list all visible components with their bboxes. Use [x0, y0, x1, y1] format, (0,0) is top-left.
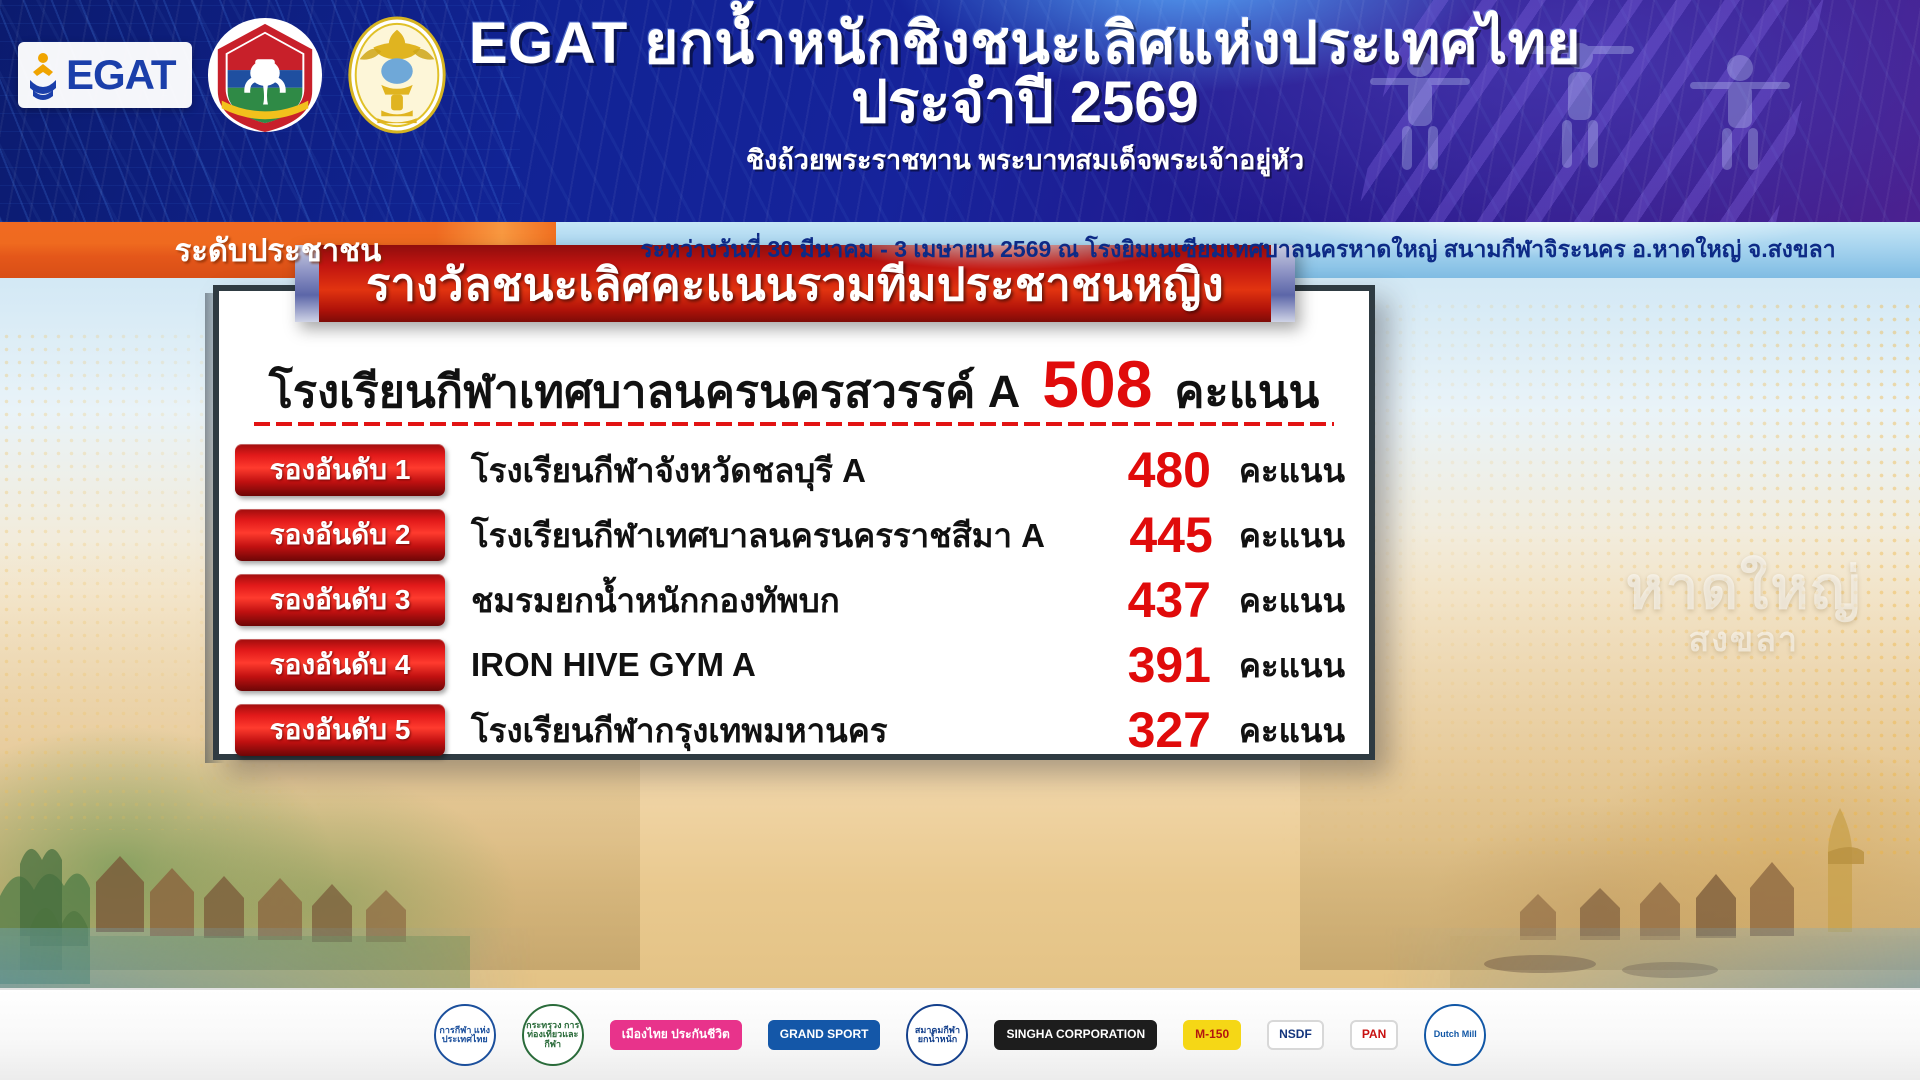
rank-badge: รองอันดับ 1	[235, 444, 445, 496]
organizer-logos: EGAT	[18, 16, 456, 134]
team-name: ชมรมยกน้ำหนักกองทัพบก	[445, 574, 1041, 627]
sponsor-sat-seal: การกีฬา แห่งประเทศไทย	[434, 1002, 496, 1068]
team-name: IRON HIVE GYM A	[445, 646, 1041, 684]
rank-label: รองอันดับ 3	[270, 578, 411, 622]
sponsor-miso-mark: M-150	[1183, 1020, 1241, 1049]
sponsor-dutch-mill: Dutch Mill	[1424, 1002, 1486, 1068]
river-strip	[0, 928, 1920, 988]
sponsor-sat-seal-mark: การกีฬา แห่งประเทศไทย	[434, 1004, 496, 1066]
rank-badge: รองอันดับ 4	[235, 639, 445, 691]
sponsor-nsdf: NSDF	[1267, 1002, 1324, 1068]
team-score: 327	[1041, 705, 1211, 755]
rank-label: รองอันดับ 2	[270, 513, 411, 557]
category-label: ระดับประชาชน	[175, 225, 382, 275]
team-score-unit: คะแนน	[1211, 639, 1351, 692]
table-row: รองอันดับ 5 โรงเรียนกีฬากรุงเทพมหานคร 32…	[235, 698, 1351, 762]
sponsor-pan-mark: PAN	[1350, 1020, 1398, 1049]
egat-logo: EGAT	[18, 42, 192, 108]
sponsor-grand-sport: GRAND SPORT	[768, 1002, 881, 1068]
table-row: รองอันดับ 2 โรงเรียนกีฬาเทศบาลนครนครราชส…	[235, 503, 1351, 567]
event-title-line-2: ประจำปี 2569	[430, 73, 1620, 134]
egat-figure-icon	[26, 50, 60, 100]
event-subtitle: ชิงถ้วยพระราชทาน พระบาทสมเด็จพระเจ้าอยู่…	[430, 138, 1620, 181]
event-title-block: EGAT ยกน้ำหนักชิงชนะเลิศแห่งประเทศไทย ปร…	[430, 14, 1620, 181]
team-score: 391	[1041, 640, 1211, 690]
winner-row: โรงเรียนกีฬาเทศบาลนครนครสวรรค์ A 508 คะแ…	[219, 351, 1369, 427]
sponsor-muangthai-mark: เมืองไทย ประกันชีวิต	[610, 1020, 742, 1049]
table-row: รองอันดับ 1 โรงเรียนกีฬาจังหวัดชลบุรี A …	[235, 438, 1351, 502]
rank-badge: รองอันดับ 5	[235, 704, 445, 756]
winner-team-name: โรงเรียนกีฬาเทศบาลนครนครสวรรค์ A	[269, 355, 1021, 427]
team-score: 445	[1045, 510, 1213, 560]
team-score-unit: คะแนน	[1211, 704, 1351, 757]
table-row: รองอันดับ 4 IRON HIVE GYM A 391 คะแนน	[235, 633, 1351, 697]
team-score: 437	[1041, 575, 1211, 625]
winner-divider	[254, 422, 1334, 426]
sponsor-bar: การกีฬา แห่งประเทศไทยกระทรวง การท่องเที่…	[0, 988, 1920, 1080]
rank-badge: รองอันดับ 3	[235, 574, 445, 626]
sponsor-singha-corporation-mark: SINGHA CORPORATION	[994, 1020, 1157, 1049]
table-row: รองอันดับ 3 ชมรมยกน้ำหนักกองทัพบก 437 คะ…	[235, 568, 1351, 632]
team-score-unit: คะแนน	[1211, 574, 1351, 627]
rank-label: รองอันดับ 1	[270, 448, 411, 492]
team-score-unit: คะแนน	[1211, 444, 1351, 497]
sponsor-ministry-seal-mark: กระทรวง การท่องเที่ยวและกีฬา	[522, 1004, 584, 1066]
event-header: EGAT	[0, 0, 1920, 222]
sponsor-ttweightlifting: สมาคมกีฬา ยกน้ำหนัก	[906, 1002, 968, 1068]
sponsor-dutch-mill-mark: Dutch Mill	[1424, 1004, 1486, 1066]
sponsor-nsdf-mark: NSDF	[1267, 1020, 1324, 1049]
runner-up-list: รองอันดับ 1 โรงเรียนกีฬาจังหวัดชลบุรี A …	[235, 438, 1351, 763]
rank-label: รองอันดับ 4	[270, 643, 411, 687]
team-name: โรงเรียนกีฬากรุงเทพมหานคร	[445, 704, 1041, 757]
sponsor-grand-sport-mark: GRAND SPORT	[768, 1020, 881, 1049]
elephant-emblem-seal-icon	[206, 16, 324, 134]
team-name: โรงเรียนกีฬาจังหวัดชลบุรี A	[445, 444, 1041, 497]
sponsor-pan: PAN	[1350, 1002, 1398, 1068]
team-score-unit: คะแนน	[1213, 509, 1351, 562]
date-venue-label: ระหว่างวันที่ 30 มีนาคม - 3 เมษายน 2569 …	[640, 232, 1835, 268]
rank-badge: รองอันดับ 2	[235, 509, 445, 561]
team-name: โรงเรียนกีฬาเทศบาลนครนครราชสีมา A	[445, 509, 1045, 562]
sponsor-singha-corporation: SINGHA CORPORATION	[994, 1002, 1157, 1068]
egat-wordmark: EGAT	[66, 51, 176, 99]
sponsor-muangthai: เมืองไทย ประกันชีวิต	[610, 1002, 742, 1068]
winner-score: 508	[1042, 351, 1152, 417]
winner-score-unit: คะแนน	[1174, 355, 1319, 427]
sponsor-ttweightlifting-mark: สมาคมกีฬา ยกน้ำหนัก	[906, 1004, 968, 1066]
sponsor-miso: M-150	[1183, 1002, 1241, 1068]
results-card: โรงเรียนกีฬาเทศบาลนครนครสวรรค์ A 508 คะแ…	[213, 285, 1375, 760]
rank-label: รองอันดับ 5	[270, 708, 411, 752]
event-title-line-1: EGAT ยกน้ำหนักชิงชนะเลิศแห่งประเทศไทย	[430, 14, 1620, 73]
sponsor-ministry-seal: กระทรวง การท่องเที่ยวและกีฬา	[522, 1002, 584, 1068]
team-score: 480	[1041, 445, 1211, 495]
